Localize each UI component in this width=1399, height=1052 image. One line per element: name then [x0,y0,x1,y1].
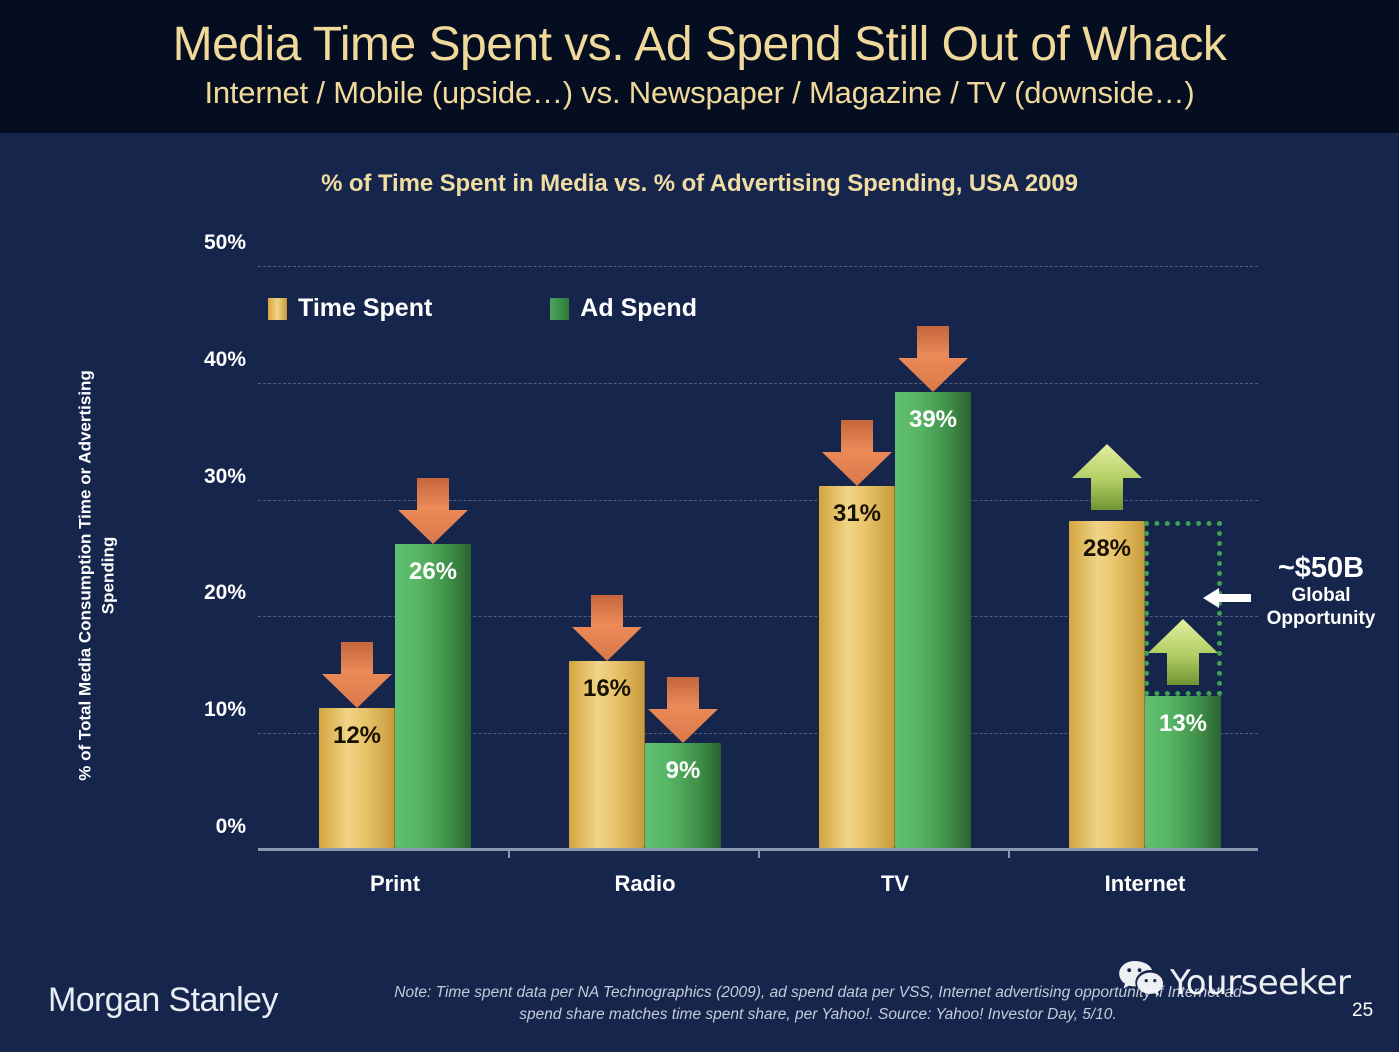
legend-swatch [268,298,287,320]
bar-value-label: 39% [895,406,971,434]
legend-item[interactable]: Time Spent [268,294,432,323]
bar-value-label: 26% [395,558,471,586]
bar-value-label: 16% [569,675,645,703]
bar-value-label: 13% [1145,710,1221,738]
bar-group: 16%9% [569,264,721,848]
down-arrow-icon [822,420,892,486]
morgan-stanley-logo: Morgan Stanley [48,981,278,1020]
page-title: Media Time Spent vs. Ad Spend Still Out … [173,20,1227,70]
footnote: Note: Time spent data per NA Technograph… [318,982,1318,1027]
opportunity-value: ~$50B [1245,551,1397,585]
y-axis-label: % of Total Media Consumption Time or Adv… [72,340,122,810]
legend-label: Time Spent [298,294,432,323]
chart-plot-area: 0%10%20%30%40%50% 12%26%16%9%31%39%28%13… [258,267,1258,851]
bar-ad-spend[interactable]: 13% [1145,696,1221,848]
down-arrow-icon [898,326,968,392]
opportunity-callout: ~$50B Global Opportunity [1245,551,1397,630]
y-axis-tick-label: 10% [136,698,246,722]
bar-value-label: 28% [1069,535,1145,563]
down-arrow-icon [398,478,468,544]
chart-legend: Time SpentAd Spend [268,294,697,323]
x-axis-tickmark [1008,850,1010,858]
x-axis-category-label: Print [319,871,471,897]
page-number: 25 [1352,1000,1373,1022]
footnote-line-2: spend share matches time spent share, pe… [318,1004,1318,1026]
footnote-line-1: Note: Time spent data per NA Technograph… [394,984,1241,1001]
bar-value-label: 9% [645,757,721,785]
legend-swatch [550,298,569,320]
slide-header: Media Time Spent vs. Ad Spend Still Out … [0,0,1399,133]
callout-arrow-icon [1203,585,1251,611]
down-arrow-icon [322,642,392,708]
slide: Media Time Spent vs. Ad Spend Still Out … [0,0,1399,1052]
opportunity-line3: Opportunity [1245,608,1397,630]
x-axis-tickmark [508,850,510,858]
down-arrow-icon [648,677,718,743]
y-axis-tick-label: 0% [136,815,246,839]
x-axis-category-label: Radio [569,871,721,897]
bar-value-label: 12% [319,722,395,750]
y-axis-tick-label: 20% [136,581,246,605]
bar-time-spent[interactable]: 16% [569,661,645,848]
chart-title: % of Time Spent in Media vs. % of Advert… [0,170,1399,198]
x-axis-category-label: TV [819,871,971,897]
bar-ad-spend[interactable]: 26% [395,544,471,848]
page-subtitle: Internet / Mobile (upside…) vs. Newspape… [204,74,1194,113]
y-axis-tick-label: 50% [136,231,246,255]
y-axis-label-text: % of Total Media Consumption Time or Adv… [74,340,121,810]
bar-ad-spend[interactable]: 39% [895,392,971,848]
bar-value-label: 31% [819,500,895,528]
legend-item[interactable]: Ad Spend [550,294,697,323]
up-arrow-icon [1072,444,1142,510]
legend-label: Ad Spend [580,294,697,323]
bar-ad-spend[interactable]: 9% [645,743,721,848]
x-axis-tickmark [758,850,760,858]
bar-group: 12%26% [319,264,471,848]
bar-time-spent[interactable]: 31% [819,486,895,848]
y-axis-tick-label: 30% [136,465,246,489]
bar-time-spent[interactable]: 28% [1069,521,1145,848]
y-axis-tick-label: 40% [136,348,246,372]
opportunity-line2: Global [1245,585,1397,607]
bar-time-spent[interactable]: 12% [319,708,395,848]
x-axis-category-label: Internet [1069,871,1221,897]
down-arrow-icon [572,595,642,661]
